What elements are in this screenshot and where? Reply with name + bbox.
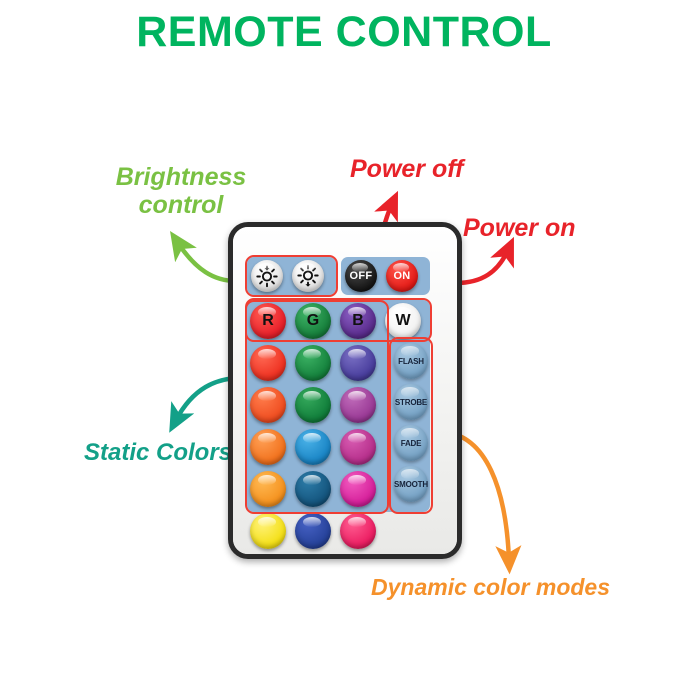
brightness-button-row [251, 260, 324, 292]
callout-label-dynamic-color-modes: Dynamic color modes [371, 575, 610, 601]
mode-label-flash: FLASH [398, 357, 424, 366]
callout-label-power-off: Power off [350, 155, 463, 183]
color-button-blue-violet[interactable] [340, 345, 376, 381]
rgbw-label-white: W [395, 312, 410, 330]
page-title: REMOTE CONTROL [0, 8, 688, 57]
mode-button-flash[interactable]: FLASH [394, 343, 428, 379]
static-color-grid [250, 345, 376, 549]
color-button-green[interactable] [295, 345, 331, 381]
mode-label-smooth: SMOOTH [394, 480, 428, 489]
color-button-red[interactable] [250, 345, 286, 381]
power-off-label: OFF [350, 270, 373, 282]
mode-button-smooth[interactable]: SMOOTH [394, 466, 428, 502]
color-button-orange[interactable] [250, 429, 286, 465]
rgbw-label-green: G [307, 312, 319, 330]
arrow-power-on [456, 250, 508, 283]
color-button-red-orange[interactable] [250, 387, 286, 423]
rgbw-button-white[interactable]: W [385, 303, 421, 339]
color-button-pink-magenta[interactable] [340, 471, 376, 507]
color-button-purple[interactable] [340, 387, 376, 423]
rgbw-button-row: R G B W [250, 303, 421, 339]
color-button-teal-blue[interactable] [295, 471, 331, 507]
brightness-up-button[interactable] [292, 260, 324, 292]
callout-label-power-on: Power on [463, 214, 576, 242]
rgbw-button-red[interactable]: R [250, 303, 286, 339]
color-button-magenta[interactable] [340, 429, 376, 465]
power-on-label: ON [393, 270, 410, 282]
rgbw-label-red: R [262, 312, 274, 330]
power-on-button[interactable]: ON [386, 260, 418, 292]
brightness-down-button[interactable] [251, 260, 283, 292]
remote-control-device: OFF ON R G B W [228, 222, 462, 559]
rgbw-button-blue[interactable]: B [340, 303, 376, 339]
power-off-button[interactable]: OFF [345, 260, 377, 292]
color-button-yellow[interactable] [250, 513, 286, 549]
dynamic-mode-button-column: FLASH STROBE FADE SMOOTH [394, 343, 428, 502]
mode-label-strobe: STROBE [395, 398, 427, 407]
rgbw-label-blue: B [352, 312, 364, 330]
color-button-green-dark[interactable] [295, 387, 331, 423]
mode-button-strobe[interactable]: STROBE [394, 384, 428, 420]
mode-button-fade[interactable]: FADE [394, 425, 428, 461]
sun-up-icon [296, 264, 320, 288]
rgbw-button-green[interactable]: G [295, 303, 331, 339]
callout-label-brightness-control: Brightness control [96, 163, 266, 219]
color-button-blue-dark[interactable] [295, 513, 331, 549]
power-button-row: OFF ON [345, 260, 418, 292]
color-button-cyan-blue[interactable] [295, 429, 331, 465]
mode-label-fade: FADE [401, 439, 422, 448]
color-button-pink[interactable] [340, 513, 376, 549]
remote-faceplate: OFF ON R G B W [233, 227, 457, 554]
callout-label-static-colors: Static Colors [84, 440, 232, 467]
color-button-orange-light[interactable] [250, 471, 286, 507]
sun-down-icon [255, 264, 279, 288]
